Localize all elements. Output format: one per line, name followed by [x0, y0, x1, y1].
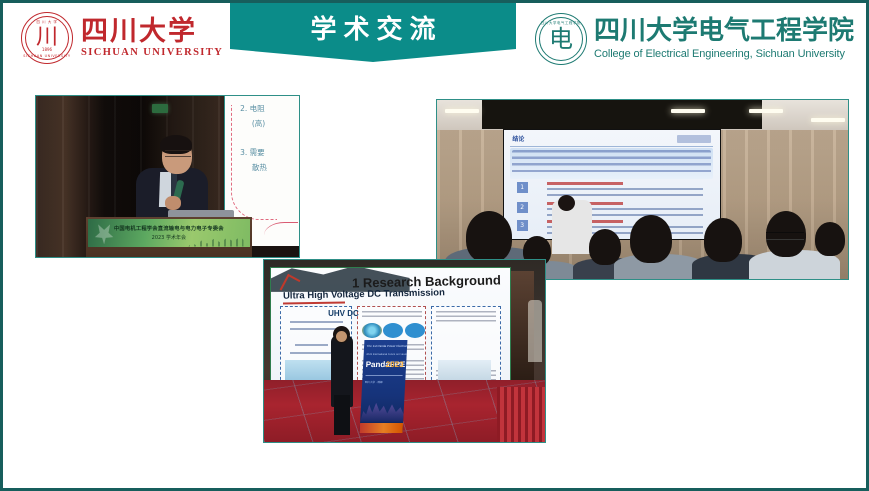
screen-bullet-line-2	[290, 328, 338, 330]
bullet-heading-1	[547, 182, 623, 185]
podium-banner: 中国电机工程学会直流输电与电力电子专委会 2023 学术年会	[88, 219, 250, 246]
podium-banner-line-2: 2023 学术年会	[152, 234, 186, 241]
university-wordmark: 四川大学 SICHUAN UNIVERSITY	[81, 18, 223, 58]
college-name-chinese: 四川大学电气工程学院	[594, 18, 854, 45]
panda-emblem-icon	[94, 224, 114, 244]
seal-year: 1896	[21, 47, 73, 52]
presenter-head	[558, 195, 575, 211]
banner-label: 学术交流	[303, 3, 442, 43]
slide-bullet-block-1: 1	[517, 182, 707, 198]
ceiling-black-panel	[482, 100, 761, 129]
slide-bullet-block-2: 2	[517, 202, 707, 218]
slide-line-3: 3. 需要	[240, 147, 265, 158]
seal-micro-bottom-text: SICHUAN UNIVERSITY	[21, 54, 73, 58]
side-figures	[528, 300, 542, 362]
college-seal-center-glyph: 电	[535, 13, 587, 65]
ceiling-light-3	[749, 109, 783, 113]
university-name-chinese: 四川大学	[81, 18, 223, 46]
photo-stage-presentation: 1 Research Background Ultra High Voltage…	[263, 259, 546, 443]
banner-year: 2023	[386, 360, 404, 369]
skyline-graphic	[188, 234, 243, 246]
projection-screen: 结论 1 2 3	[503, 129, 721, 240]
red-curve-annotation	[264, 222, 298, 244]
slide-title-rule	[510, 146, 713, 147]
speaker-glasses-icon	[165, 150, 191, 157]
audience-glasses-icon	[766, 232, 804, 240]
screen-section-label: UHV DC	[328, 309, 359, 318]
stage-presenter-legs	[334, 395, 350, 435]
podium: 中国电机工程学会直流输电与电力电子专委会 2023 学术年会	[86, 217, 252, 257]
banner-divider	[365, 375, 402, 376]
conference-standing-banner: The 1st Panda Power Electronics Symposiu…	[360, 340, 408, 433]
podium-banner-line-1: 中国电机工程学会直流输电与电力电子专委会	[114, 224, 224, 232]
banner-head-text: The 1st Panda Power Electronics Symposiu…	[367, 344, 408, 348]
slide-title: 结论	[512, 134, 524, 143]
banner-skyline-graphic	[360, 398, 404, 422]
university-seal-icon: 四 川 大 学 川 1896 SICHUAN UNIVERSITY	[21, 12, 73, 64]
audience-head-5	[704, 218, 742, 262]
screen-heading-rule	[283, 302, 345, 305]
exit-sign-icon	[152, 104, 168, 113]
photo-stage-content: 1 Research Background Ultra High Voltage…	[264, 260, 545, 442]
slide-paragraph-text	[512, 150, 711, 176]
presentation-slide: 四 川 大 学 川 1896 SICHUAN UNIVERSITY 四川大学 S…	[0, 0, 869, 491]
screen-card-right-text-1	[436, 311, 496, 321]
screen-subheading: Ultra High Voltage DC Transmission	[282, 288, 444, 302]
screen-diagram-ellipse-3	[405, 323, 425, 338]
banner-note: 四川大学 · 成都	[365, 380, 383, 384]
banner-footer-bar	[360, 423, 404, 433]
slide-line-4: 散热	[252, 162, 267, 173]
ceiling-light-4	[811, 118, 845, 122]
screen-bullet-line-1	[290, 321, 343, 323]
bullet-number-1: 1	[517, 182, 528, 193]
audience-head-4	[630, 215, 672, 263]
screen-bullet-line-3	[295, 344, 329, 346]
stage-curtain	[497, 387, 545, 442]
slide-header: 四 川 大 学 川 1896 SICHUAN UNIVERSITY 四川大学 S…	[3, 3, 866, 73]
college-of-electrical-engineering-logo: 四川大学电气工程学院 电 四川大学电气工程学院 College of Elect…	[514, 11, 854, 67]
college-wordmark: 四川大学电气工程学院 College of Electrical Enginee…	[594, 18, 854, 59]
audience-head-3	[589, 229, 621, 265]
ceiling-light-2	[671, 109, 705, 113]
stage-presenter-face	[336, 331, 347, 342]
photo-audience-conference-room: 结论 1 2 3	[436, 99, 849, 280]
university-name-english: SICHUAN UNIVERSITY	[81, 47, 223, 58]
photo-speaker-podium: 2. 电阻 (高) 3. 需要 散热 中国电机工程学会直流输电与电力电子专委会	[35, 95, 300, 258]
ceiling-light-1	[445, 109, 479, 113]
slide-line-1: 2. 电阻	[240, 103, 265, 114]
photo-audience-content: 结论 1 2 3	[437, 100, 848, 279]
academic-exchange-banner: 学术交流	[230, 3, 516, 62]
screen-diagram-ellipse-1	[362, 323, 382, 338]
screen-card-middle-text-1	[362, 311, 422, 319]
audience-head-1	[466, 211, 512, 263]
speaker-hand	[165, 196, 181, 210]
college-name-english: College of Electrical Engineering, Sichu…	[594, 48, 854, 60]
slide-corner-logo	[677, 135, 711, 143]
audience-head-7	[815, 222, 845, 256]
photo-speaker-content: 2. 电阻 (高) 3. 需要 散热 中国电机工程学会直流输电与电力电子专委会	[36, 96, 299, 257]
bullet-number-2: 2	[517, 202, 528, 213]
slide-line-2: (高)	[252, 118, 265, 129]
sichuan-university-logo: 四 川 大 学 川 1896 SICHUAN UNIVERSITY 四川大学 S…	[21, 7, 226, 69]
bullet-number-3: 3	[517, 220, 528, 231]
college-seal-icon: 四川大学电气工程学院 电	[535, 13, 587, 65]
banner-sub-text: 2023 International Forum on Future Power…	[367, 353, 408, 356]
